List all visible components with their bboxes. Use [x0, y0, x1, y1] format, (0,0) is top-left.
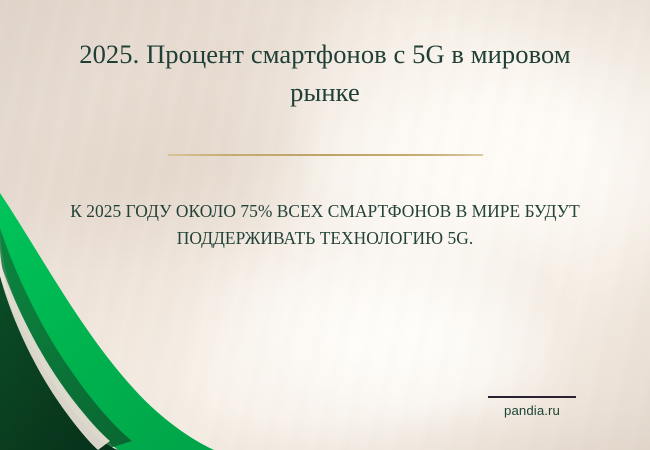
slide-canvas: 2025. Процент смартфонов с 5G в мировом …: [0, 0, 650, 450]
slide-content: 2025. Процент смартфонов с 5G в мировом …: [0, 0, 650, 450]
footer-rule: [488, 396, 576, 398]
body-text: К 2025 ГОДУ ОКОЛО 75% ВСЕХ СМАРТФОНОВ В …: [68, 198, 582, 252]
title-divider: [168, 154, 483, 156]
page-title: 2025. Процент смартфонов с 5G в мировом …: [68, 36, 582, 111]
footer: pandia.ru: [470, 396, 594, 418]
footer-source-label: pandia.ru: [470, 403, 594, 418]
